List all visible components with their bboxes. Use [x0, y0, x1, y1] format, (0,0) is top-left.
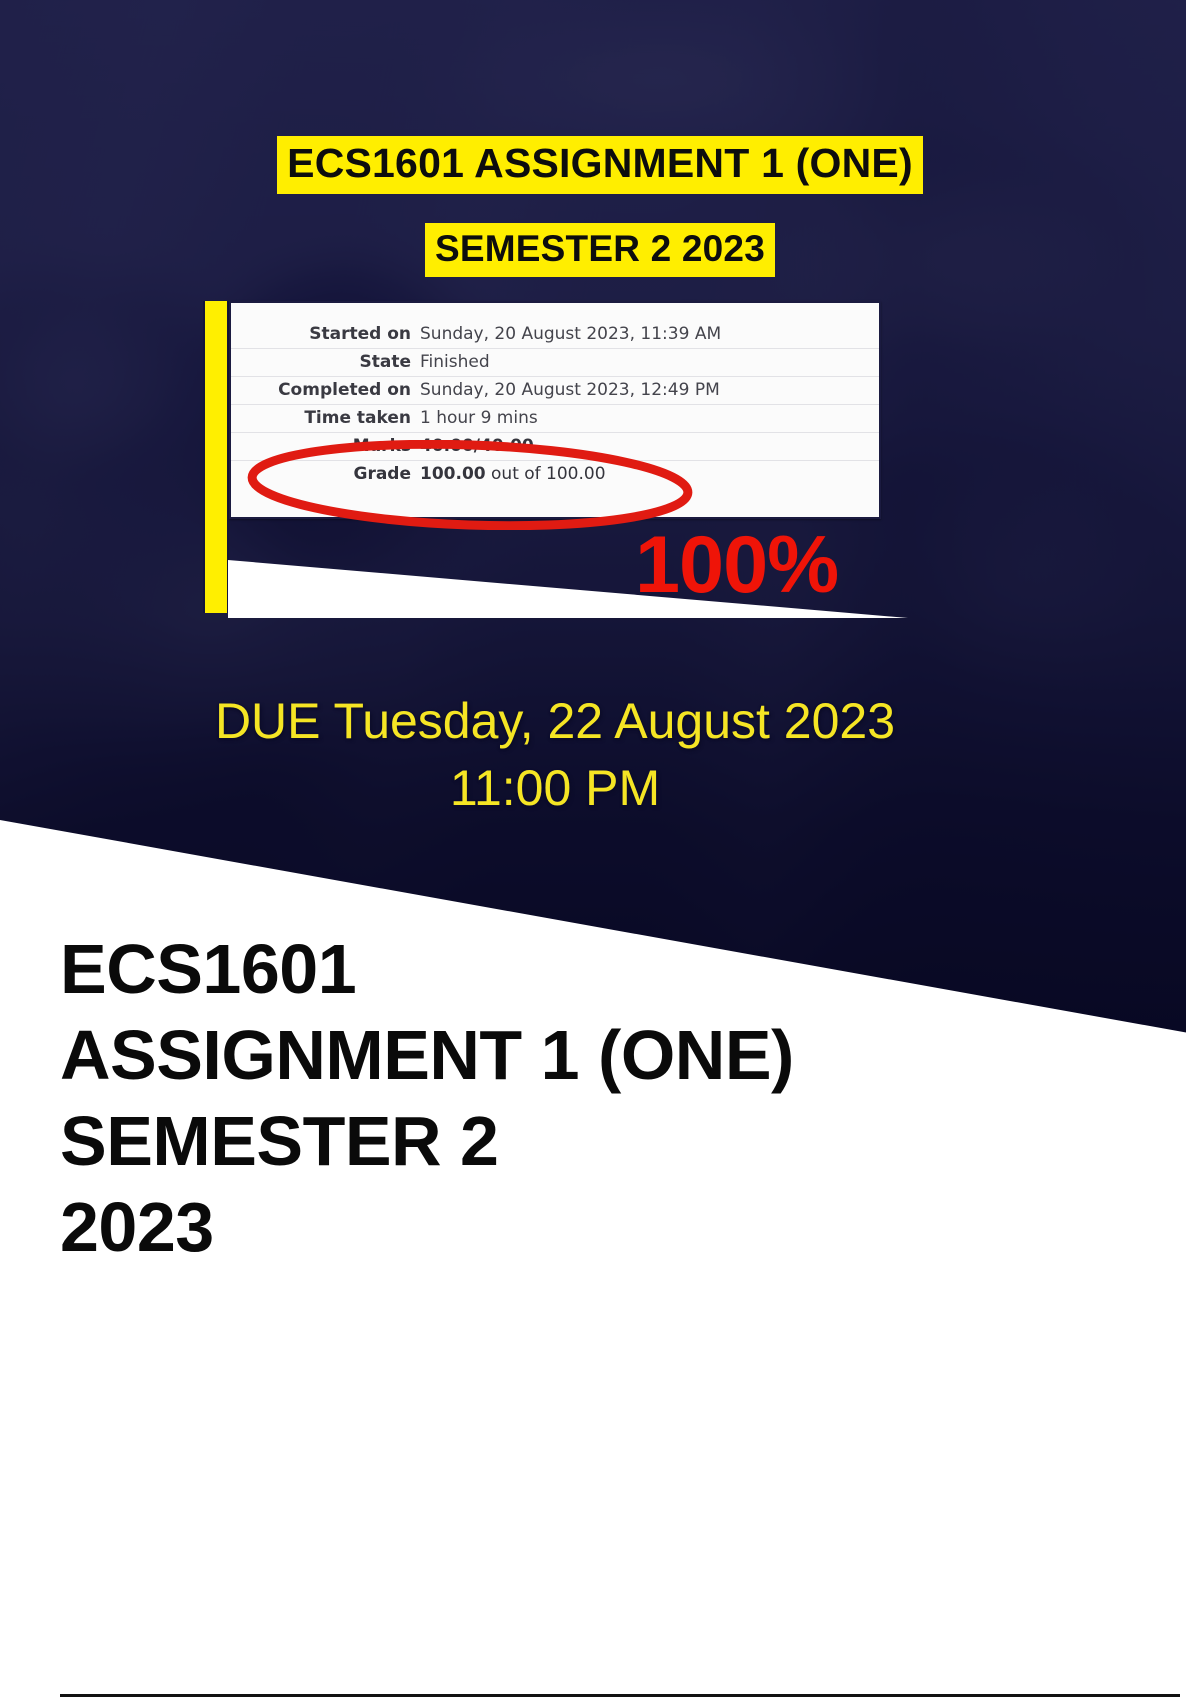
- row-value: Finished: [420, 349, 879, 377]
- row-value: Sunday, 20 August 2023, 12:49 PM: [420, 377, 879, 405]
- row-label: Started on: [231, 321, 420, 349]
- quiz-result-table: Started on Sunday, 20 August 2023, 11:39…: [231, 321, 879, 488]
- row-label: Completed on: [231, 377, 420, 405]
- table-row: Time taken 1 hour 9 mins: [231, 405, 879, 433]
- yellow-accent-bar: [203, 301, 229, 613]
- quiz-result-table-body: Started on Sunday, 20 August 2023, 11:39…: [231, 321, 879, 488]
- due-date-line-1: DUE Tuesday, 22 August 2023: [0, 688, 1110, 755]
- table-row: State Finished: [231, 349, 879, 377]
- due-date-block: DUE Tuesday, 22 August 2023 11:00 PM: [0, 688, 1110, 821]
- hero-title-line-2-text: SEMESTER 2 2023: [425, 223, 775, 277]
- quiz-result-card: Started on Sunday, 20 August 2023, 11:39…: [229, 301, 881, 519]
- hero-title-line-1-text: ECS1601 ASSIGNMENT 1 (ONE): [277, 136, 923, 194]
- row-value: Sunday, 20 August 2023, 11:39 AM: [420, 321, 879, 349]
- document-page: ECS1601 ASSIGNMENT 1 (ONE) SEMESTER 2 20…: [0, 0, 1200, 1700]
- document-title-line-4: 2023: [60, 1184, 1080, 1270]
- row-value: 1 hour 9 mins: [420, 405, 879, 433]
- row-label: State: [231, 349, 420, 377]
- footer-divider: [60, 1694, 1180, 1697]
- row-label: Marks: [231, 433, 420, 461]
- document-title-line-3: SEMESTER 2: [60, 1098, 1080, 1184]
- document-title-line-2: ASSIGNMENT 1 (ONE): [60, 1012, 1080, 1098]
- table-row: Completed on Sunday, 20 August 2023, 12:…: [231, 377, 879, 405]
- table-row: Started on Sunday, 20 August 2023, 11:39…: [231, 321, 879, 349]
- row-label: Grade: [231, 461, 420, 489]
- hero-title-line-1: ECS1601 ASSIGNMENT 1 (ONE): [0, 136, 1200, 194]
- document-title-line-1: ECS1601: [60, 926, 1080, 1012]
- grade-score: 100.00: [420, 464, 486, 484]
- percent-stamp: 100%: [635, 525, 838, 606]
- row-value: 100.00 out of 100.00: [420, 461, 879, 489]
- document-title: ECS1601 ASSIGNMENT 1 (ONE) SEMESTER 2 20…: [60, 926, 1080, 1270]
- grade-unit: out of 100.00: [486, 464, 606, 484]
- hero-title-line-2: SEMESTER 2 2023: [0, 223, 1200, 277]
- table-row-marks: Marks 40.00/40.00: [231, 433, 879, 461]
- table-row-grade: Grade 100.00 out of 100.00: [231, 461, 879, 489]
- row-value: 40.00/40.00: [420, 433, 879, 461]
- due-date-line-2: 11:00 PM: [0, 755, 1110, 822]
- row-label: Time taken: [231, 405, 420, 433]
